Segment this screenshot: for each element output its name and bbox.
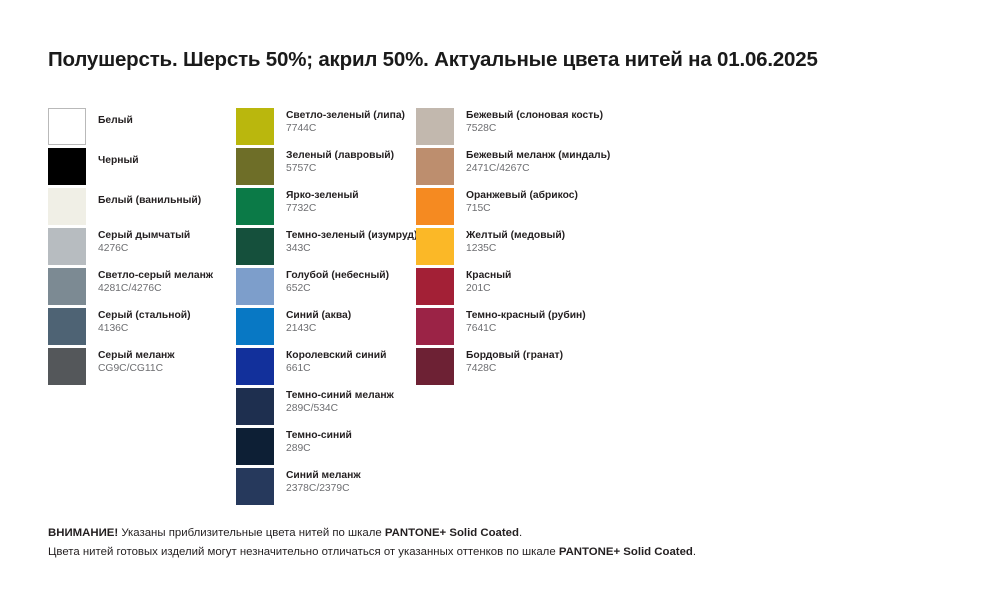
color-swatch [48,348,86,385]
swatch-labels: Темно-синий289C [286,428,506,455]
swatch-column-neutrals: БелыйЧерныйБелый (ванильный)Серый дымчат… [48,108,238,388]
swatch-pantone-code: 1235C [466,242,686,255]
footer-pantone-label-2: PANTONE+ Solid Coated [559,546,693,558]
swatch-labels: Темно-красный (рубин)7641C [466,308,686,335]
swatch-labels: Желтый (медовый)1235C [466,228,686,255]
swatch-name: Оранжевый (абрикос) [466,189,686,202]
color-swatch [236,388,274,425]
swatch-row: Белый (ванильный) [48,188,238,228]
swatch-pantone-code: 715C [466,202,686,215]
color-chart-page: Полушерсть. Шерсть 50%; акрил 50%. Актуа… [0,0,1000,609]
color-swatch [236,148,274,185]
color-swatch [236,228,274,265]
color-swatch [48,308,86,345]
swatch-name: Синий меланж [286,469,506,482]
swatch-row: Светло-серый меланж4281C/4276C [48,268,238,308]
footer-disclaimer: ВНИМАНИЕ! Указаны приблизительные цвета … [48,524,968,562]
footer-pantone-label-1: PANTONE+ Solid Coated [385,527,519,539]
swatch-row: Светло-зеленый (липа)7744C [236,108,426,148]
swatch-row: Оранжевый (абрикос)715C [416,188,646,228]
color-swatch [48,108,86,145]
footer-line-2: Цвета нитей готовых изделий могут незнач… [48,543,968,562]
swatch-row: Белый [48,108,238,148]
color-swatch [416,348,454,385]
swatch-pantone-code: 7528C [466,122,686,135]
swatch-row: Серый меланжCG9C/CG11C [48,348,238,388]
swatch-row: Бежевый (слоновая кость)7528C [416,108,646,148]
color-swatch [236,268,274,305]
color-swatch [236,108,274,145]
swatch-row: Бежевый меланж (миндаль)2471C/4267C [416,148,646,188]
color-swatch [416,148,454,185]
color-swatch [416,268,454,305]
swatch-row: Королевский синий661C [236,348,426,388]
color-swatch [48,148,86,185]
footer-line-2-text: Цвета нитей готовых изделий могут незнач… [48,546,559,558]
swatch-row: Темно-зеленый (изумруд)343C [236,228,426,268]
color-swatch [48,228,86,265]
swatch-row: Ярко-зеленый7732C [236,188,426,228]
swatch-name: Красный [466,269,686,282]
swatch-row: Черный [48,148,238,188]
swatch-labels: Красный201C [466,268,686,295]
color-swatch [236,188,274,225]
swatch-row: Темно-синий меланж289C/534C [236,388,426,428]
swatch-labels: Темно-синий меланж289C/534C [286,388,506,415]
swatch-row: Голубой (небесный)652C [236,268,426,308]
swatch-row: Зеленый (лавровый)5757C [236,148,426,188]
swatch-pantone-code: 289C/534C [286,402,506,415]
footer-line-1-tail: . [519,527,522,539]
color-swatch [236,428,274,465]
swatch-labels: Бежевый (слоновая кость)7528C [466,108,686,135]
swatch-row: Серый дымчатый4276C [48,228,238,268]
page-title: Полушерсть. Шерсть 50%; акрил 50%. Актуа… [48,48,968,72]
swatch-row: Серый (стальной)4136C [48,308,238,348]
footer-attention-label: ВНИМАНИЕ! [48,527,118,539]
swatch-row: Желтый (медовый)1235C [416,228,646,268]
swatch-name: Бежевый меланж (миндаль) [466,149,686,162]
swatch-labels: Бордовый (гранат)7428C [466,348,686,375]
color-swatch [48,188,86,225]
swatch-pantone-code: 2471C/4267C [466,162,686,175]
swatch-row: Темно-красный (рубин)7641C [416,308,646,348]
swatch-labels: Синий меланж2378C/2379C [286,468,506,495]
swatch-name: Темно-синий [286,429,506,442]
color-swatch [416,228,454,265]
swatch-name: Бежевый (слоновая кость) [466,109,686,122]
swatch-row: Синий (аква)2143C [236,308,426,348]
color-swatch [416,108,454,145]
swatch-name: Темно-синий меланж [286,389,506,402]
color-swatch [416,188,454,225]
swatch-pantone-code: 201C [466,282,686,295]
color-swatch [48,268,86,305]
swatch-pantone-code: 2378C/2379C [286,482,506,495]
swatch-column-greens-blues: Светло-зеленый (липа)7744CЗеленый (лавро… [236,108,426,508]
swatch-row: Бордовый (гранат)7428C [416,348,646,388]
swatch-name: Желтый (медовый) [466,229,686,242]
swatch-labels: Оранжевый (абрикос)715C [466,188,686,215]
swatch-name: Бордовый (гранат) [466,349,686,362]
swatch-pantone-code: 7641C [466,322,686,335]
swatch-name: Темно-красный (рубин) [466,309,686,322]
color-swatch [416,308,454,345]
swatch-pantone-code: 7428C [466,362,686,375]
swatch-row: Темно-синий289C [236,428,426,468]
swatch-row: Синий меланж2378C/2379C [236,468,426,508]
swatch-column-warm-reds: Бежевый (слоновая кость)7528CБежевый мел… [416,108,646,388]
swatch-labels: Бежевый меланж (миндаль)2471C/4267C [466,148,686,175]
footer-line-1: ВНИМАНИЕ! Указаны приблизительные цвета … [48,524,968,543]
color-swatch [236,308,274,345]
swatch-pantone-code: 289C [286,442,506,455]
footer-line-1-text: Указаны приблизительные цвета нитей по ш… [118,527,385,539]
footer-line-2-tail: . [693,546,696,558]
color-swatch [236,468,274,505]
swatch-row: Красный201C [416,268,646,308]
color-swatch [236,348,274,385]
